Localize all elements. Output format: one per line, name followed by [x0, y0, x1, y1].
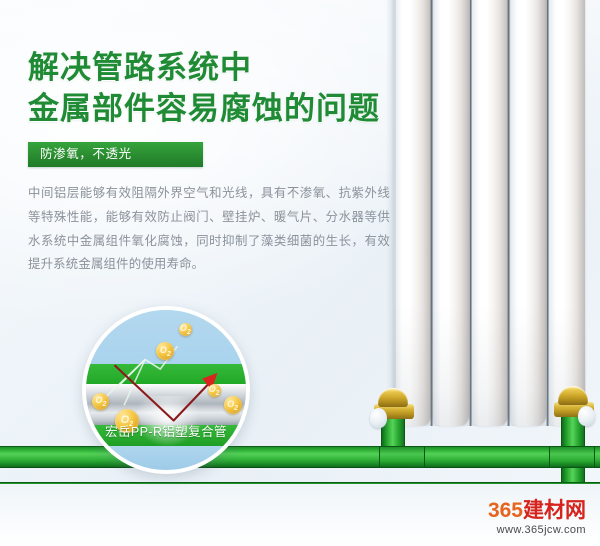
o2-label: O2: [160, 345, 171, 358]
radiator-column-gap: [507, 0, 510, 426]
watermark-suffix: 建材网: [523, 499, 586, 522]
radiator-column: [547, 0, 585, 426]
description-paragraph: 中间铝层能够有效阻隔外界空气和光线，具有不渗氧、抗紫外线等特殊性能，能够有效防止…: [28, 182, 390, 277]
radiator-column-gap: [430, 0, 433, 426]
pipe-elbow-right: [549, 446, 595, 468]
radiator-column-gap: [546, 0, 549, 426]
watermark-number: 365: [488, 499, 523, 522]
valve-knob: [578, 406, 595, 426]
oxygen-molecule: O2: [224, 396, 242, 414]
site-watermark: 365建材网 www.365jcw.com: [488, 500, 586, 536]
o2-label: O2: [227, 399, 238, 412]
watermark-logo: 365建材网: [488, 500, 586, 521]
oxygen-molecule: O2: [208, 384, 221, 397]
watermark-url: www.365jcw.com: [488, 524, 586, 536]
oxygen-molecule: O2: [179, 323, 192, 336]
radiator-column-gap: [469, 0, 472, 426]
brass-angle-valve-right: [552, 386, 596, 426]
valve-cap: [558, 386, 588, 405]
radiator-column: [432, 0, 470, 426]
valve-cap: [378, 388, 408, 407]
o2-label: O2: [180, 323, 191, 336]
diagram-caption: 宏岳PP-R铝塑复合管: [86, 423, 246, 441]
o2-label: O2: [95, 395, 106, 408]
product-promo-banner: 解决管路系统中 金属部件容易腐蚀的问题 防渗氧，不透光 中间铝层能够有效阻隔外界…: [0, 0, 600, 546]
page-title: 解决管路系统中 金属部件容易腐蚀的问题: [28, 48, 428, 130]
radiator-column: [470, 0, 508, 426]
brass-angle-valve-left: [372, 388, 416, 428]
feature-badge: 防渗氧，不透光: [28, 142, 203, 167]
layer-structure-diagram: O2 O2 O2 O2 O2 O2 宏岳PP-R铝塑复合管: [82, 306, 250, 474]
o2-label: O2: [209, 384, 220, 397]
valve-knob: [370, 408, 387, 428]
pipe-elbow-left: [379, 446, 425, 468]
oxygen-blocked-arrow: [86, 310, 246, 470]
radiator-column: [509, 0, 547, 426]
